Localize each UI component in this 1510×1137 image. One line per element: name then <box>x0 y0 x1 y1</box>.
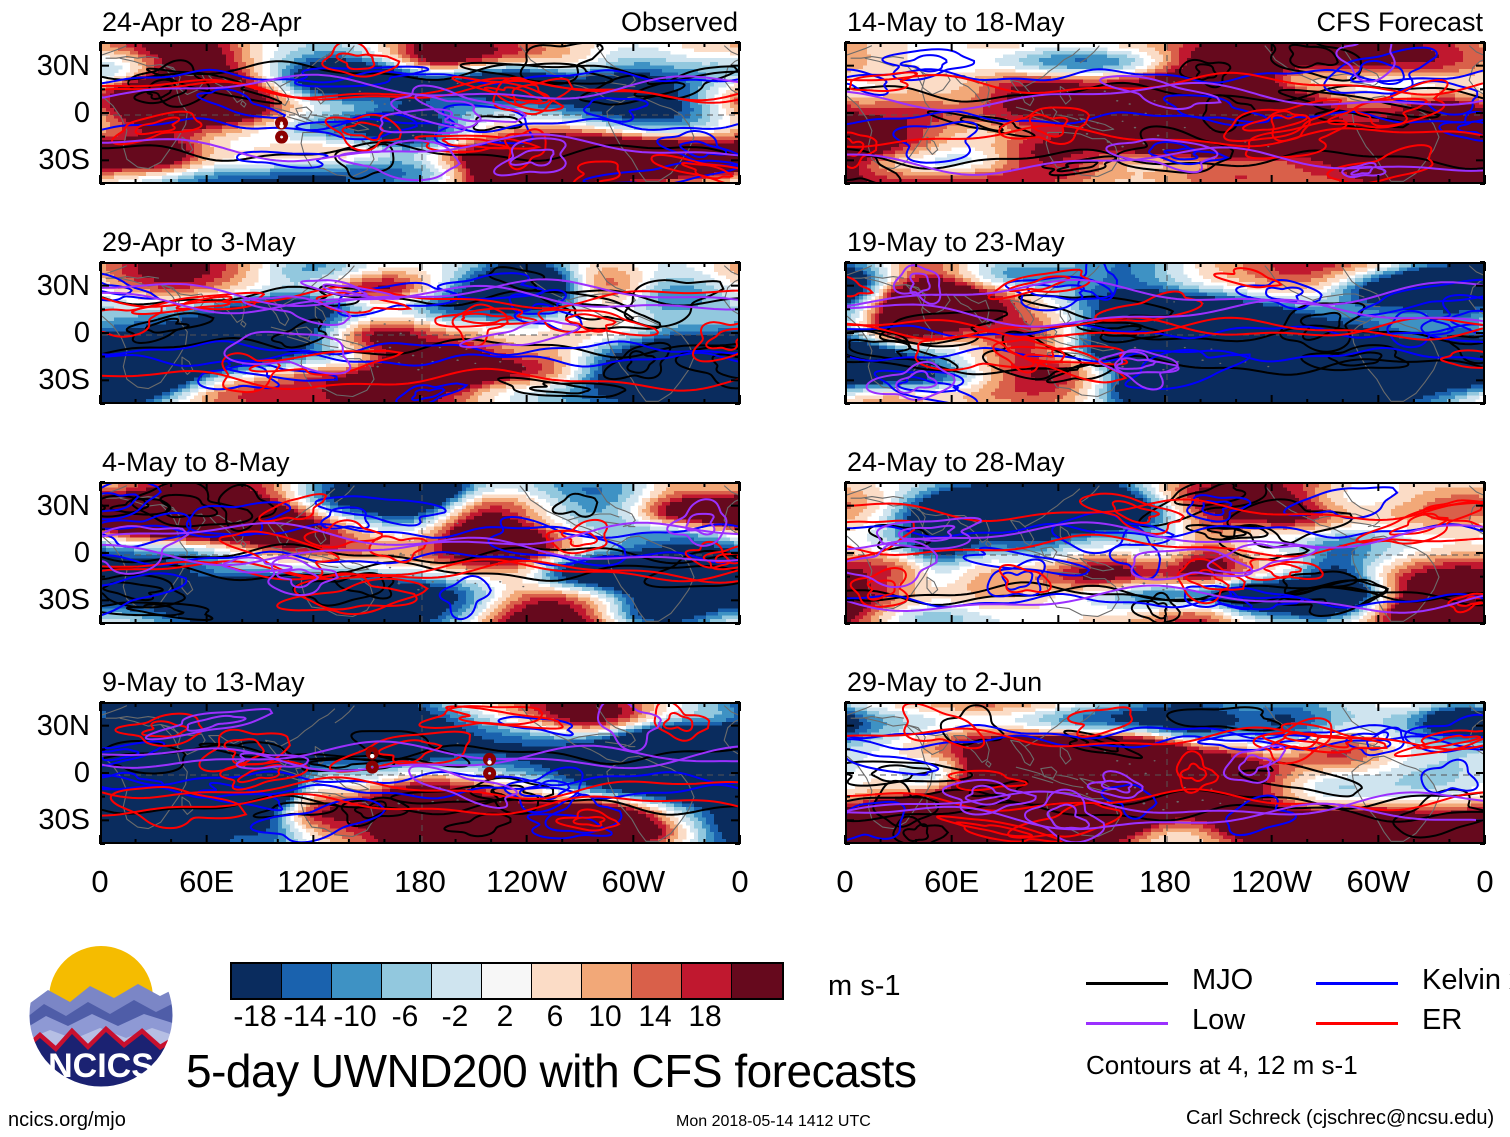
x-axis-label-right-4: 120W <box>1212 866 1332 897</box>
legend-swatch-er <box>1316 1022 1398 1025</box>
panel-axis-ticks <box>80 471 760 635</box>
x-axis-label-left-5: 60W <box>573 866 693 897</box>
colorbar-swatch-4 <box>432 964 482 998</box>
footer-timestamp: Mon 2018-05-14 1412 UTC <box>676 1112 871 1132</box>
y-axis-label-30S: 30S <box>0 586 90 615</box>
x-axis-label-right-5: 60W <box>1318 866 1438 897</box>
panel-axis-ticks <box>80 31 760 195</box>
x-axis-label-left-3: 180 <box>360 866 480 897</box>
panel-axis-ticks <box>825 251 1505 415</box>
y-axis-label-30N: 30N <box>0 712 90 741</box>
colorbar-swatch-3 <box>382 964 432 998</box>
x-axis-label-right-1: 60E <box>892 866 1012 897</box>
y-axis-label-0: 0 <box>0 99 90 128</box>
colorbar-swatch-0 <box>232 964 282 998</box>
y-axis-label-30S: 30S <box>0 366 90 395</box>
colorbar <box>230 962 784 1000</box>
x-axis-label-left-2: 120E <box>253 866 373 897</box>
colorbar-swatch-5 <box>482 964 532 998</box>
y-axis-label-30N: 30N <box>0 272 90 301</box>
y-axis-label-0: 0 <box>0 759 90 788</box>
colorbar-swatch-2 <box>332 964 382 998</box>
colorbar-swatch-7 <box>582 964 632 998</box>
logo-text: NCICS <box>48 1047 154 1085</box>
colorbar-swatch-9 <box>682 964 732 998</box>
legend-label-mjo: MJO <box>1192 966 1253 995</box>
panel-axis-ticks <box>825 471 1505 635</box>
legend-label-kelvin-x2: Kelvin x2 <box>1422 966 1510 995</box>
panel-axis-ticks <box>80 251 760 415</box>
legend-swatch-kelvin-x2 <box>1316 982 1398 985</box>
x-axis-label-right-0: 0 <box>785 866 905 897</box>
colorbar-swatch-8 <box>632 964 682 998</box>
legend-swatch-low <box>1086 1022 1168 1025</box>
contour-interval-note: Contours at 4, 12 m s-1 <box>1086 1052 1358 1078</box>
legend-label-er: ER <box>1422 1006 1462 1035</box>
colorbar-tick-9: 18 <box>665 1002 745 1032</box>
ncics-logo: NCICS <box>26 940 176 1090</box>
y-axis-label-30N: 30N <box>0 492 90 521</box>
x-axis-label-right-6: 0 <box>1425 866 1510 897</box>
x-axis-label-right-3: 180 <box>1105 866 1225 897</box>
y-axis-label-30S: 30S <box>0 806 90 835</box>
panel-axis-ticks <box>825 691 1505 855</box>
panel-axis-ticks <box>80 691 760 855</box>
x-axis-label-left-0: 0 <box>40 866 160 897</box>
panel-axis-ticks <box>825 31 1505 195</box>
legend-label-low: Low <box>1192 1006 1245 1035</box>
x-axis-label-left-1: 60E <box>147 866 267 897</box>
y-axis-label-30N: 30N <box>0 52 90 81</box>
footer-author: Carl Schreck (cjschrec@ncsu.edu) <box>1186 1108 1494 1128</box>
x-axis-label-left-4: 120W <box>467 866 587 897</box>
page-title: 5-day UWND200 with CFS forecasts <box>186 1048 916 1094</box>
x-axis-label-left-6: 0 <box>680 866 800 897</box>
x-axis-label-right-2: 120E <box>998 866 1118 897</box>
footer-site-link[interactable]: ncics.org/mjo <box>8 1110 126 1130</box>
y-axis-label-30S: 30S <box>0 146 90 175</box>
colorbar-swatch-6 <box>532 964 582 998</box>
colorbar-swatch-10 <box>732 964 782 998</box>
colorbar-swatch-1 <box>282 964 332 998</box>
y-axis-label-0: 0 <box>0 539 90 568</box>
y-axis-label-0: 0 <box>0 319 90 348</box>
legend-swatch-mjo <box>1086 982 1168 985</box>
colorbar-units-label: m s-1 <box>828 972 901 1001</box>
